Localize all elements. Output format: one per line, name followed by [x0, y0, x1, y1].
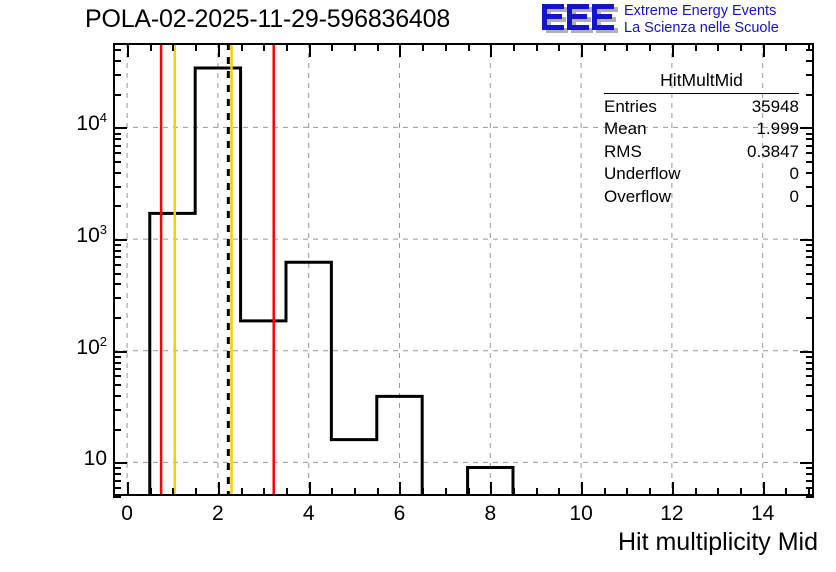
y-minor-tick-right — [806, 429, 814, 431]
y-tick-label: 104 — [41, 112, 107, 136]
y-minor-tick-right — [806, 362, 814, 364]
x-minor-tick — [740, 488, 742, 496]
y-minor-tick — [113, 186, 121, 188]
x-minor-tick-top — [717, 43, 719, 51]
stats-row: RMS0.3847 — [604, 139, 799, 162]
x-minor-tick — [241, 488, 243, 496]
y-minor-tick — [113, 264, 121, 266]
x-minor-tick-top — [150, 43, 152, 51]
x-tick-label: 12 — [647, 502, 697, 526]
stats-row: Underflow0 — [604, 162, 799, 185]
x-major-tick-top — [763, 43, 765, 57]
y-minor-tick — [113, 138, 121, 140]
y-major-tick — [113, 351, 127, 353]
x-minor-tick — [150, 488, 152, 496]
x-minor-tick — [695, 488, 697, 496]
y-minor-tick — [113, 172, 121, 174]
y-minor-tick — [113, 467, 121, 469]
x-minor-tick — [717, 488, 719, 496]
y-minor-tick — [113, 356, 121, 358]
x-minor-tick — [331, 488, 333, 496]
y-minor-tick — [113, 384, 121, 386]
x-major-tick — [399, 482, 401, 496]
stats-row-value: 0 — [790, 164, 799, 184]
y-minor-tick — [113, 473, 121, 475]
y-minor-tick-right — [806, 384, 814, 386]
y-minor-tick — [113, 283, 121, 285]
x-minor-tick — [649, 488, 651, 496]
x-major-tick — [309, 482, 311, 496]
stats-row-key: Entries — [604, 97, 657, 117]
x-minor-tick-top — [558, 43, 560, 51]
y-minor-tick — [113, 409, 121, 411]
y-minor-tick-right — [806, 133, 814, 135]
y-minor-tick — [113, 250, 121, 252]
stats-row-key: Overflow — [604, 187, 671, 207]
x-minor-tick — [195, 488, 197, 496]
stats-row: Overflow0 — [604, 184, 799, 207]
y-major-tick — [113, 127, 127, 129]
stats-row-key: Mean — [604, 119, 647, 139]
x-minor-tick — [604, 488, 606, 496]
x-minor-tick — [785, 488, 787, 496]
y-tick-label: 102 — [41, 336, 107, 360]
x-major-tick — [672, 482, 674, 496]
y-minor-tick-right — [806, 368, 814, 370]
stats-row-value: 0 — [790, 187, 799, 207]
y-minor-tick-right — [806, 138, 814, 140]
stats-row-value: 1.999 — [756, 119, 799, 139]
y-minor-tick-right — [806, 496, 814, 498]
y-minor-tick — [113, 375, 121, 377]
x-major-tick-top — [399, 43, 401, 57]
y-minor-tick-right — [806, 375, 814, 377]
y-minor-tick — [113, 487, 121, 489]
x-major-tick-top — [672, 43, 674, 57]
y-minor-tick-right — [806, 172, 814, 174]
x-tick-label: 0 — [102, 502, 152, 526]
x-minor-tick-top — [808, 43, 810, 51]
y-major-tick-right — [800, 351, 814, 353]
x-tick-label: 14 — [738, 502, 788, 526]
y-minor-tick — [113, 74, 121, 76]
x-tick-label: 8 — [465, 502, 515, 526]
y-minor-tick-right — [806, 356, 814, 358]
x-tick-label: 10 — [556, 502, 606, 526]
y-minor-tick — [113, 395, 121, 397]
x-minor-tick — [445, 488, 447, 496]
y-minor-tick-right — [806, 74, 814, 76]
x-minor-tick — [172, 488, 174, 496]
eee-logo-text: Extreme Energy Events La Scienza nelle S… — [624, 3, 779, 37]
x-minor-tick-top — [649, 43, 651, 51]
x-minor-tick — [513, 488, 515, 496]
y-major-tick-right — [800, 239, 814, 241]
x-minor-tick-top — [422, 43, 424, 51]
stats-row-key: RMS — [604, 142, 642, 162]
x-minor-tick-top — [695, 43, 697, 51]
x-major-tick — [490, 482, 492, 496]
x-minor-tick-top — [445, 43, 447, 51]
page-title: POLA-02-2025-11-29-596836408 — [85, 5, 450, 34]
stats-box: HitMultMid Entries35948Mean1.999RMS0.384… — [604, 70, 799, 207]
x-minor-tick — [422, 488, 424, 496]
x-minor-tick-top — [241, 43, 243, 51]
x-minor-tick — [263, 488, 265, 496]
x-minor-tick-top — [172, 43, 174, 51]
y-minor-tick-right — [806, 244, 814, 246]
y-minor-tick-right — [806, 161, 814, 163]
y-major-tick — [113, 239, 127, 241]
x-minor-tick — [286, 488, 288, 496]
x-minor-tick-top — [331, 43, 333, 51]
y-minor-tick — [113, 145, 121, 147]
x-minor-tick — [558, 488, 560, 496]
y-minor-tick-right — [806, 186, 814, 188]
eee-logo: Extreme Energy Events La Scienza nelle S… — [540, 2, 832, 42]
y-minor-tick — [113, 480, 121, 482]
y-minor-tick — [113, 244, 121, 246]
x-minor-tick-top — [785, 43, 787, 51]
stats-box-title: HitMultMid — [604, 70, 799, 94]
root-canvas: POLA-02-2025-11-29-596836408 — [0, 0, 836, 572]
y-major-tick-right — [800, 127, 814, 129]
y-minor-tick-right — [806, 467, 814, 469]
x-minor-tick-top — [468, 43, 470, 51]
y-minor-tick-right — [806, 317, 814, 319]
x-minor-tick-top — [626, 43, 628, 51]
y-minor-tick-right — [806, 205, 814, 207]
y-minor-tick-right — [806, 256, 814, 258]
y-minor-tick — [113, 317, 121, 319]
x-major-tick-top — [309, 43, 311, 57]
y-tick-label: 10 — [41, 447, 107, 471]
y-minor-tick — [113, 429, 121, 431]
y-minor-tick-right — [806, 283, 814, 285]
y-major-tick-right — [800, 462, 814, 464]
y-tick-label: 103 — [41, 224, 107, 248]
x-axis-title: Hit multiplicity Mid — [618, 528, 818, 557]
y-minor-tick-right — [806, 264, 814, 266]
stats-row-key: Underflow — [604, 164, 681, 184]
x-major-tick — [218, 482, 220, 496]
y-minor-tick — [113, 273, 121, 275]
x-minor-tick-top — [286, 43, 288, 51]
y-minor-tick — [113, 368, 121, 370]
y-minor-tick-right — [806, 145, 814, 147]
stats-row-value: 35948 — [752, 97, 799, 117]
x-minor-tick-top — [377, 43, 379, 51]
x-minor-tick — [377, 488, 379, 496]
x-minor-tick-top — [604, 43, 606, 51]
y-minor-tick-right — [806, 94, 814, 96]
x-minor-tick-top — [263, 43, 265, 51]
y-minor-tick — [113, 133, 121, 135]
x-tick-label: 2 — [193, 502, 243, 526]
y-minor-tick-right — [806, 60, 814, 62]
stats-row: Mean1.999 — [604, 117, 799, 140]
stats-rows: Entries35948Mean1.999RMS0.3847Underflow0… — [604, 94, 799, 207]
eee-logo-line2: La Scienza nelle Scuole — [624, 20, 779, 37]
y-minor-tick — [113, 496, 121, 498]
x-major-tick — [763, 482, 765, 496]
x-major-tick — [581, 482, 583, 496]
stats-row-value: 0.3847 — [747, 142, 799, 162]
x-tick-label: 4 — [284, 502, 334, 526]
stats-row: Entries35948 — [604, 94, 799, 117]
y-minor-tick — [113, 205, 121, 207]
y-minor-tick — [113, 94, 121, 96]
y-minor-tick-right — [806, 395, 814, 397]
y-minor-tick-right — [806, 152, 814, 154]
x-minor-tick — [468, 488, 470, 496]
x-major-tick-top — [490, 43, 492, 57]
eee-logo-line1: Extreme Energy Events — [624, 3, 779, 20]
y-minor-tick — [113, 256, 121, 258]
y-minor-tick-right — [806, 480, 814, 482]
x-minor-tick-top — [513, 43, 515, 51]
x-minor-tick-top — [354, 43, 356, 51]
x-minor-tick-top — [536, 43, 538, 51]
x-minor-tick — [354, 488, 356, 496]
x-minor-tick-top — [740, 43, 742, 51]
x-minor-tick — [808, 488, 810, 496]
y-minor-tick-right — [806, 273, 814, 275]
x-tick-label: 6 — [374, 502, 424, 526]
x-major-tick-top — [127, 43, 129, 57]
x-major-tick-top — [581, 43, 583, 57]
x-major-tick — [127, 482, 129, 496]
y-minor-tick-right — [806, 473, 814, 475]
y-minor-tick — [113, 49, 121, 51]
eee-logo-mark — [540, 3, 620, 37]
y-minor-tick-right — [806, 409, 814, 411]
y-minor-tick-right — [806, 250, 814, 252]
y-minor-tick — [113, 161, 121, 163]
x-minor-tick — [536, 488, 538, 496]
y-minor-tick — [113, 362, 121, 364]
y-minor-tick-right — [806, 297, 814, 299]
y-major-tick — [113, 462, 127, 464]
y-minor-tick — [113, 60, 121, 62]
x-minor-tick-top — [195, 43, 197, 51]
y-minor-tick — [113, 152, 121, 154]
y-minor-tick — [113, 297, 121, 299]
x-major-tick-top — [218, 43, 220, 57]
x-minor-tick — [626, 488, 628, 496]
